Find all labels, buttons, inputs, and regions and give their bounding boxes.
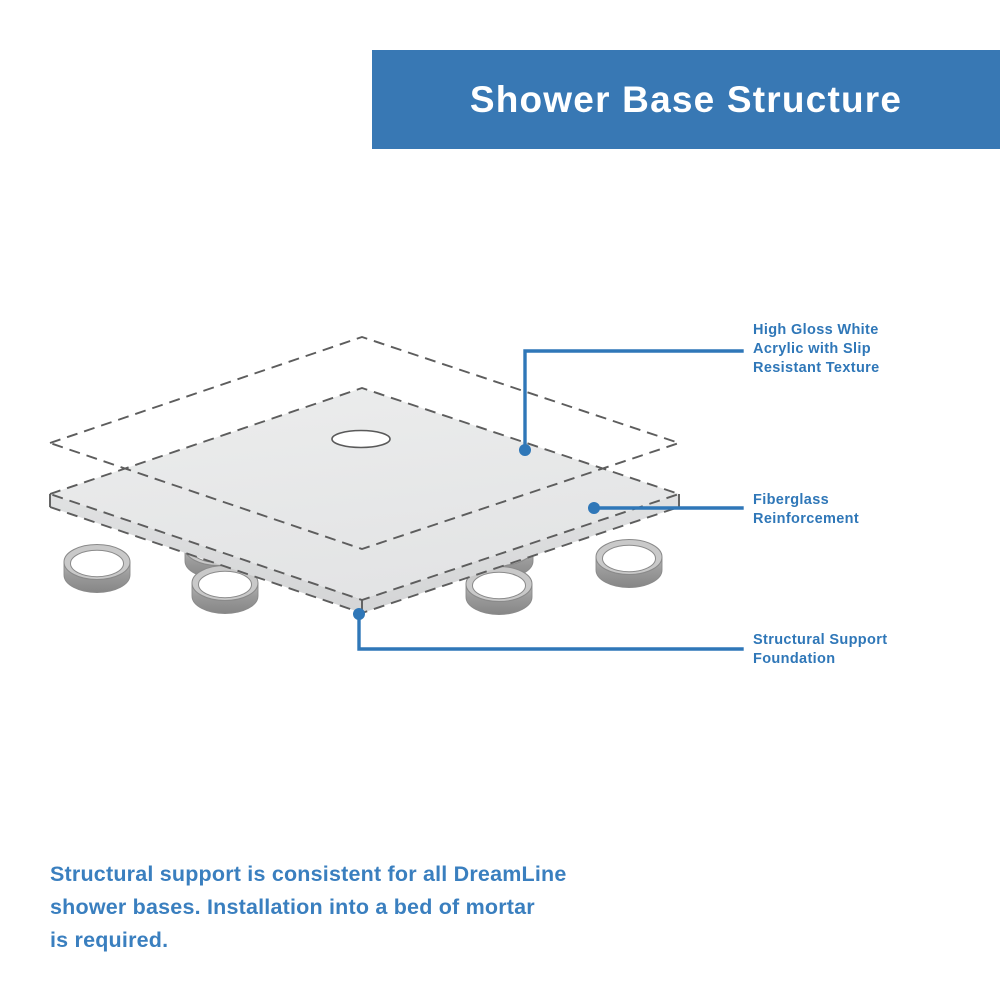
fiberglass-slab-layer [50, 388, 679, 613]
support-ring [64, 545, 130, 593]
leader-line-foundation [353, 608, 742, 649]
drain-opening [332, 431, 390, 448]
support-ring [596, 540, 662, 588]
footer-caption: Structural support is consistent for all… [50, 858, 690, 957]
callout-label-fiberglass: Fiberglass Reinforcement [753, 491, 859, 529]
infographic-root: Shower Base Structure [0, 0, 1000, 1000]
leader-line-acrylic [519, 351, 742, 456]
callout-label-acrylic: High Gloss White Acrylic with Slip Resis… [753, 321, 880, 378]
callout-label-foundation: Structural Support Foundation [753, 631, 887, 669]
